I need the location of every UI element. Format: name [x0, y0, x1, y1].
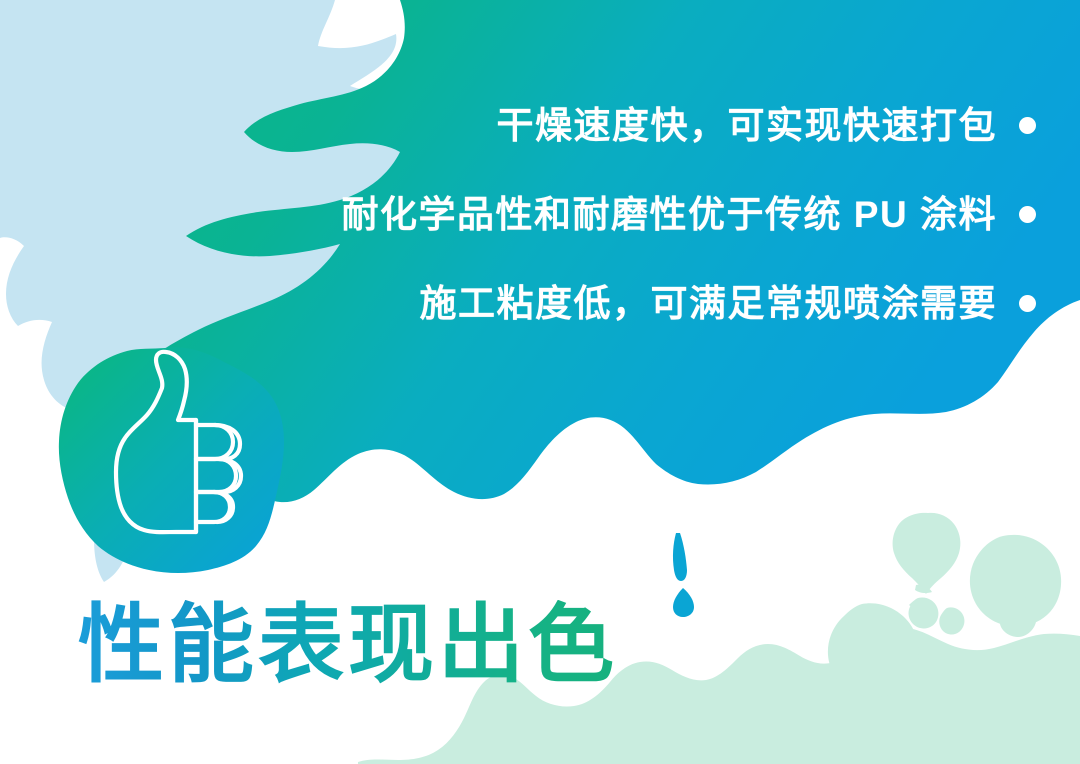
poster-canvas: 干燥速度快，可实现快速打包 耐化学品性和耐磨性优于传统 PU 涂料 施工粘度低，… — [0, 0, 1080, 764]
bullet-text-2: 耐化学品性和耐磨性优于传统 PU 涂料 — [342, 196, 997, 233]
decor-paint-drip — [673, 533, 694, 617]
bullet-item-2[interactable]: 耐化学品性和耐磨性优于传统 PU 涂料 — [342, 196, 1036, 233]
bullet-item-3[interactable]: 施工粘度低，可满足常规喷涂需要 — [420, 285, 1037, 322]
bullet-text-1: 干燥速度快，可实现快速打包 — [497, 107, 998, 144]
page-title: 性能表现出色 — [78, 600, 618, 690]
bullet-dot-icon-1 — [1019, 117, 1036, 134]
bullet-text-3: 施工粘度低，可满足常规喷涂需要 — [420, 285, 998, 322]
bullet-dot-icon-2 — [1019, 206, 1036, 223]
bullet-item-1[interactable]: 干燥速度快，可实现快速打包 — [497, 107, 1037, 144]
icon-badge-blob — [59, 347, 284, 573]
bullet-dot-icon-3 — [1019, 295, 1036, 312]
